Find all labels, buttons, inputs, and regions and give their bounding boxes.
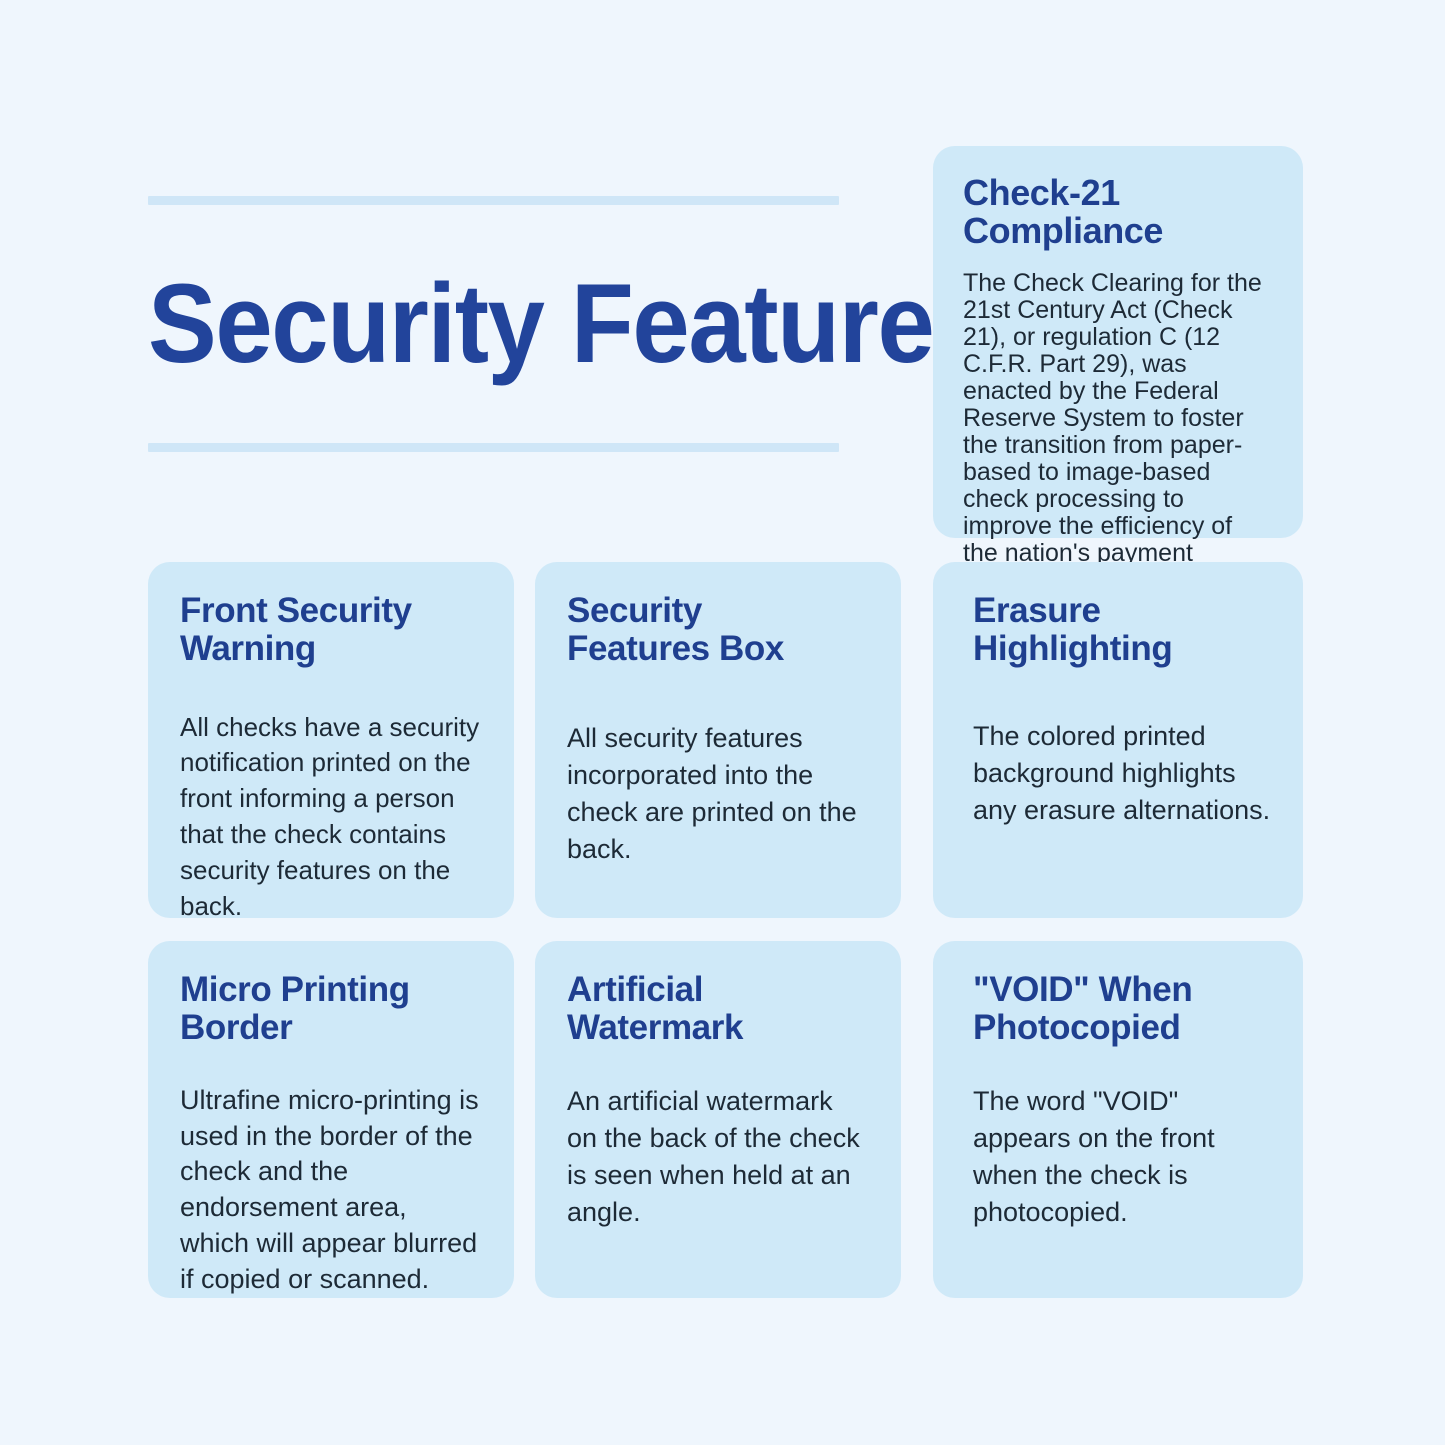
card-body-check-21-compliance: The Check Clearing for the 21st Century …: [963, 270, 1273, 594]
title-rule-top: [148, 196, 839, 205]
page-title: Security Features: [148, 268, 989, 380]
card-artificial-watermark: Artificial Watermark An artificial water…: [535, 941, 901, 1298]
header-block: Security Features: [148, 196, 839, 452]
card-body-micro-printing-border: Ultrafine micro-printing is used in the …: [180, 1083, 482, 1298]
card-body-void-when-photocopied: The word "VOID" appears on the front whe…: [965, 1083, 1271, 1232]
infographic-page: Security Features Check-21 Compliance Th…: [0, 0, 1445, 1445]
card-heading-micro-printing-border: Micro Printing Border: [180, 971, 482, 1047]
card-heading-void-when-photocopied: "VOID" When Photocopied: [965, 971, 1271, 1047]
card-body-front-security-warning: All checks have a security notification …: [180, 710, 482, 925]
title-rule-bottom: [148, 443, 839, 452]
card-erasure-highlighting: Erasure Highlighting The colored printed…: [933, 562, 1303, 918]
card-check-21-compliance: Check-21 Compliance The Check Clearing f…: [933, 146, 1303, 538]
card-body-erasure-highlighting: The colored printed background highlight…: [965, 718, 1271, 830]
card-front-security-warning: Front Security Warning All checks have a…: [148, 562, 514, 918]
card-body-security-features-box: All security features incorporated into …: [567, 720, 869, 869]
card-security-features-box: Security Features Box All security featu…: [535, 562, 901, 918]
card-heading-check-21-compliance: Check-21 Compliance: [963, 174, 1273, 250]
card-micro-printing-border: Micro Printing Border Ultrafine micro-pr…: [148, 941, 514, 1298]
page-title-container: Security Features: [148, 205, 839, 443]
card-heading-artificial-watermark: Artificial Watermark: [567, 971, 869, 1047]
card-body-artificial-watermark: An artificial watermark on the back of t…: [567, 1083, 869, 1232]
card-void-when-photocopied: "VOID" When Photocopied The word "VOID" …: [933, 941, 1303, 1298]
card-heading-security-features-box: Security Features Box: [567, 592, 869, 668]
card-heading-front-security-warning: Front Security Warning: [180, 592, 482, 668]
card-heading-erasure-highlighting: Erasure Highlighting: [965, 592, 1271, 668]
